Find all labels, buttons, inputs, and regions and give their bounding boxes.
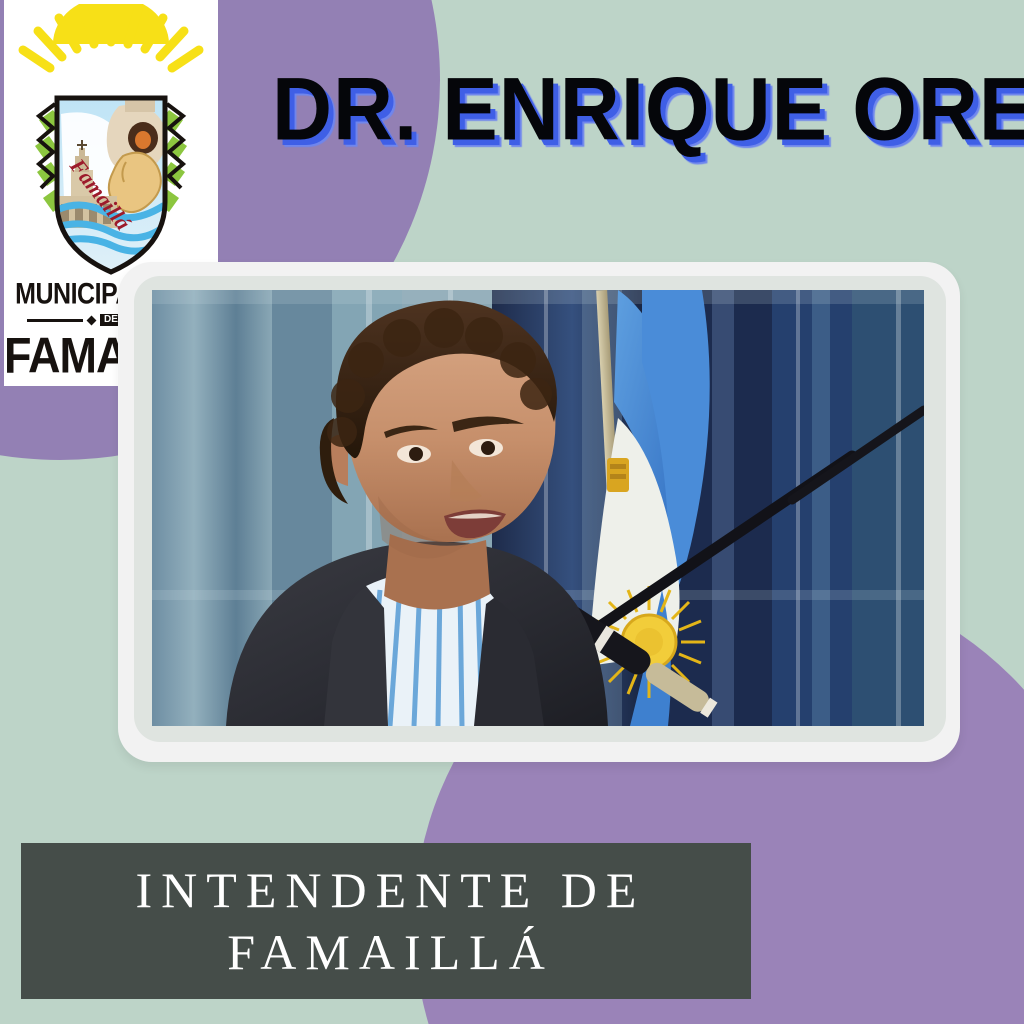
role-caption: INTENDENTE DE FAMAILLÁ bbox=[21, 843, 751, 999]
divider-dot-left bbox=[87, 315, 97, 325]
page-title: DR. ENRIQUE ORELLANA bbox=[272, 58, 1009, 164]
poster-canvas: Famaillá MUNICIPALIDAD DE FAMAILLÁ DR. E… bbox=[0, 0, 1024, 1024]
divider-rule-left bbox=[27, 319, 83, 322]
role-caption-line-1: INTENDENTE DE bbox=[127, 859, 646, 921]
sun-icon bbox=[16, 4, 206, 96]
shield-icon: Famaillá bbox=[27, 92, 195, 278]
role-caption-line-2: FAMAILLÁ bbox=[218, 921, 554, 983]
portrait-photo bbox=[152, 290, 924, 726]
portrait-photo-illustration bbox=[152, 290, 924, 726]
